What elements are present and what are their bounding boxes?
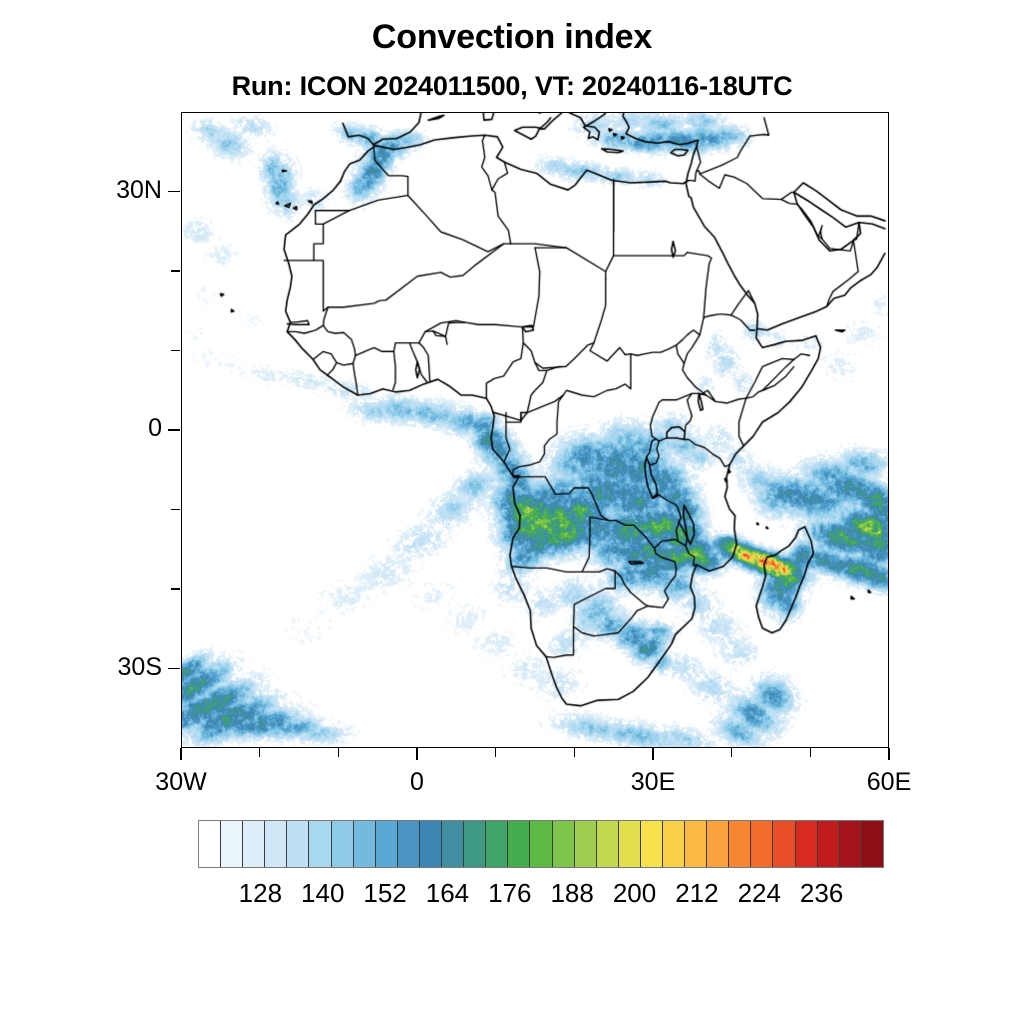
colorbar[interactable] (198, 820, 884, 868)
colorbar-cell (663, 821, 685, 867)
colorbar-label: 140 (301, 878, 344, 909)
colorbar-cell (818, 821, 840, 867)
x-tick-major (652, 748, 654, 760)
colorbar-cell (221, 821, 243, 867)
colorbar-label: 188 (550, 878, 593, 909)
y-axis-label: 0 (148, 414, 162, 443)
x-axis-label: 30E (631, 768, 675, 797)
colorbar-cell (486, 821, 508, 867)
figure-root: Convection index Run: ICON 2024011500, V… (0, 0, 1024, 1024)
colorbar-cell (309, 821, 331, 867)
colorbar-cell (287, 821, 309, 867)
colorbar-label: 128 (239, 878, 282, 909)
y-tick-minor (171, 588, 180, 589)
x-axis-label: 30W (155, 768, 206, 797)
x-tick-major (180, 748, 182, 760)
map-canvas (182, 113, 888, 747)
y-axis-label: 30N (116, 176, 162, 205)
colorbar-cell (332, 821, 354, 867)
map-plot-area[interactable] (181, 112, 889, 748)
colorbar-label: 212 (675, 878, 718, 909)
x-axis-label: 0 (410, 768, 424, 797)
colorbar-cells (198, 820, 884, 868)
x-axis-label: 60E (867, 768, 911, 797)
colorbar-cell (707, 821, 729, 867)
colorbar-cell (729, 821, 751, 867)
colorbar-cell (243, 821, 265, 867)
colorbar-cell (464, 821, 486, 867)
colorbar-cell (862, 821, 883, 867)
colorbar-cell (199, 821, 221, 867)
colorbar-label: 176 (488, 878, 531, 909)
y-tick-major (168, 668, 180, 670)
x-tick-major (888, 748, 890, 760)
colorbar-label: 236 (800, 878, 843, 909)
colorbar-label: 224 (738, 878, 781, 909)
colorbar-cell (685, 821, 707, 867)
colorbar-cell (354, 821, 376, 867)
y-axis-label: 30S (118, 653, 162, 682)
colorbar-cell (619, 821, 641, 867)
colorbar-cell (751, 821, 773, 867)
colorbar-cell (265, 821, 287, 867)
x-tick-minor (810, 748, 811, 757)
x-tick-minor (731, 748, 732, 757)
colorbar-cell (840, 821, 862, 867)
colorbar-cell (773, 821, 795, 867)
y-tick-minor (171, 509, 180, 510)
y-tick-minor (171, 350, 180, 351)
x-tick-minor (495, 748, 496, 757)
colorbar-label: 200 (613, 878, 656, 909)
colorbar-cell (508, 821, 530, 867)
colorbar-cell (641, 821, 663, 867)
colorbar-label: 164 (426, 878, 469, 909)
colorbar-cell (442, 821, 464, 867)
page-subtitle: Run: ICON 2024011500, VT: 20240116-18UTC (0, 71, 1024, 102)
y-tick-major (168, 429, 180, 431)
colorbar-cell (530, 821, 552, 867)
colorbar-cell (420, 821, 442, 867)
x-tick-major (416, 748, 418, 760)
colorbar-cell (597, 821, 619, 867)
y-tick-minor (171, 270, 180, 271)
colorbar-cell (796, 821, 818, 867)
colorbar-cell (553, 821, 575, 867)
page-title: Convection index (0, 18, 1024, 57)
colorbar-cell (575, 821, 597, 867)
x-tick-minor (259, 748, 260, 757)
colorbar-cell (398, 821, 420, 867)
x-tick-minor (338, 748, 339, 757)
colorbar-label: 152 (363, 878, 406, 909)
x-tick-minor (574, 748, 575, 757)
y-tick-major (168, 191, 180, 193)
colorbar-cell (376, 821, 398, 867)
